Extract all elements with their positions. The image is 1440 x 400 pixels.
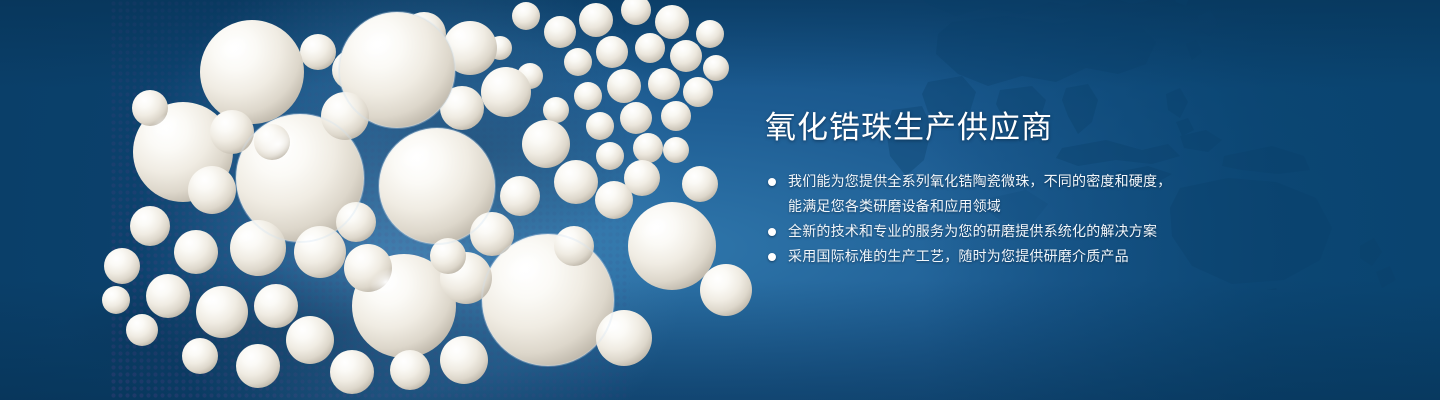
feature-bullet-item: 采用国际标准的生产工艺，随时为您提供研磨介质产品 <box>765 244 1325 269</box>
bullet-text-line-1: 我们能为您提供全系列氧化锆陶瓷微珠，不同的密度和硬度， <box>788 173 1171 189</box>
bullet-dot-icon <box>768 253 776 261</box>
feature-bullet-item: 全新的技术和专业的服务为您的研磨提供系统化的解决方案 <box>765 219 1325 244</box>
feature-bullet-item: 我们能为您提供全系列氧化锆陶瓷微珠，不同的密度和硬度， 能满足您各类研磨设备和应… <box>765 169 1325 219</box>
feature-bullet-list: 我们能为您提供全系列氧化锆陶瓷微珠，不同的密度和硬度， 能满足您各类研磨设备和应… <box>765 169 1325 269</box>
bullet-text-line-1: 全新的技术和专业的服务为您的研磨提供系统化的解决方案 <box>788 223 1157 239</box>
bullet-dot-icon <box>768 178 776 186</box>
bullet-text-line-2: 能满足您各类研磨设备和应用领域 <box>788 194 1325 219</box>
banner-headline: 氧化锆珠生产供应商 <box>765 108 1325 148</box>
banner-copy: 氧化锆珠生产供应商 我们能为您提供全系列氧化锆陶瓷微珠，不同的密度和硬度， 能满… <box>765 108 1325 269</box>
bullet-dot-icon <box>768 228 776 236</box>
hero-banner: 氧化锆珠生产供应商 我们能为您提供全系列氧化锆陶瓷微珠，不同的密度和硬度， 能满… <box>0 0 1440 400</box>
bullet-text-line-1: 采用国际标准的生产工艺，随时为您提供研磨介质产品 <box>788 248 1129 264</box>
